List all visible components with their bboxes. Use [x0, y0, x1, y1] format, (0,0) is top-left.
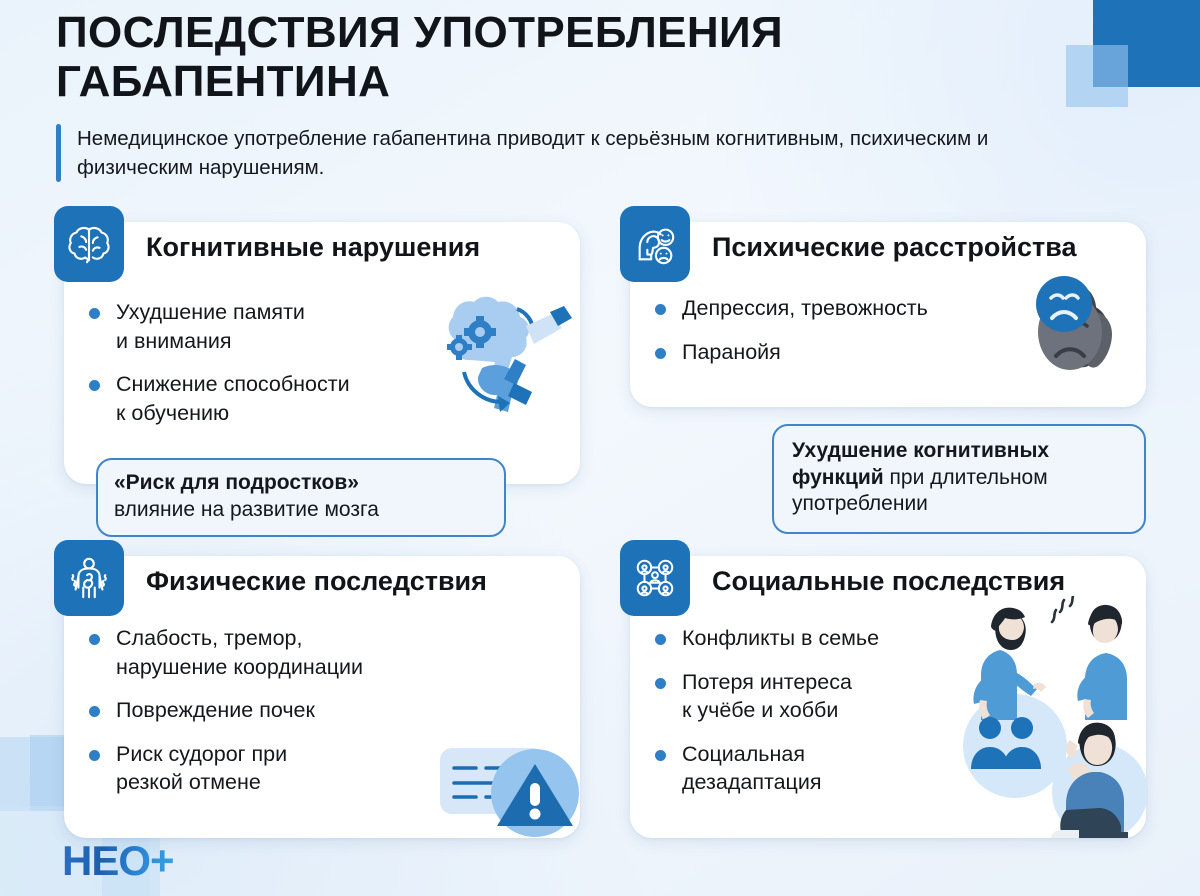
brain-icon: [54, 206, 124, 282]
card-heading-social: Социальные последствия: [712, 566, 1065, 597]
body-organs-icon: [54, 540, 124, 616]
page-title: ПОСЛЕДСТВИЯ УПОТРЕБЛЕНИЯ ГАБАПЕНТИНА: [56, 8, 1056, 107]
callout-cognitive-decline: Ухудшение когнитивных функций при длител…: [772, 424, 1146, 534]
page-subtitle: Немедицинское употребление габапентина п…: [77, 124, 1007, 182]
decorative-square-top-right-light: [1066, 45, 1128, 107]
people-network-icon: [620, 540, 690, 616]
card-heading-cognitive: Когнитивные нарушения: [146, 232, 480, 263]
head-faces-icon: [620, 206, 690, 282]
list-item: Повреждение почек: [88, 696, 488, 725]
list-item: Снижение способности к обучению: [88, 370, 438, 427]
list-item: Риск судорог при резкой отмене: [88, 740, 488, 797]
decorative-square-bottom-left-b: [30, 735, 66, 811]
list-item: Социальная дезадаптация: [654, 740, 984, 797]
list-item: Слабость, тремор, нарушение координации: [88, 624, 488, 681]
bullet-list-cognitive: Ухудшение памяти и внимания Снижение спо…: [88, 298, 438, 442]
list-item: Ухудшение памяти и внимания: [88, 298, 438, 355]
list-item: Паранойя: [654, 338, 1034, 367]
callout-teen-risk-text: влияние на развитие мозга: [114, 498, 379, 521]
list-item: Конфликты в семье: [654, 624, 984, 653]
callout-teen-risk: «Риск для подростков» влияние на развити…: [96, 458, 506, 537]
list-item: Депрессия, тревожность: [654, 294, 1034, 323]
bullet-list-social: Конфликты в семье Потеря интереса к учёб…: [654, 624, 984, 812]
subtitle-accent-bar: [56, 124, 61, 182]
infographic-canvas: ПОСЛЕДСТВИЯ УПОТРЕБЛЕНИЯ ГАБАПЕНТИНА Нем…: [0, 0, 1200, 896]
card-heading-physical: Физические последствия: [146, 566, 487, 597]
bullet-list-mental: Депрессия, тревожность Паранойя: [654, 294, 1034, 381]
callout-teen-risk-bold: «Риск для подростков»: [114, 471, 359, 494]
header: ПОСЛЕДСТВИЯ УПОТРЕБЛЕНИЯ ГАБАПЕНТИНА Нем…: [56, 8, 1056, 182]
bullet-list-physical: Слабость, тремор, нарушение координации …: [88, 624, 488, 812]
list-item: Потеря интереса к учёбе и хобби: [654, 668, 984, 725]
brand-logo: НЕО+: [62, 840, 174, 882]
card-heading-mental: Психические расстройства: [712, 232, 1076, 263]
subtitle-block: Немедицинское употребление габапентина п…: [56, 124, 1056, 182]
